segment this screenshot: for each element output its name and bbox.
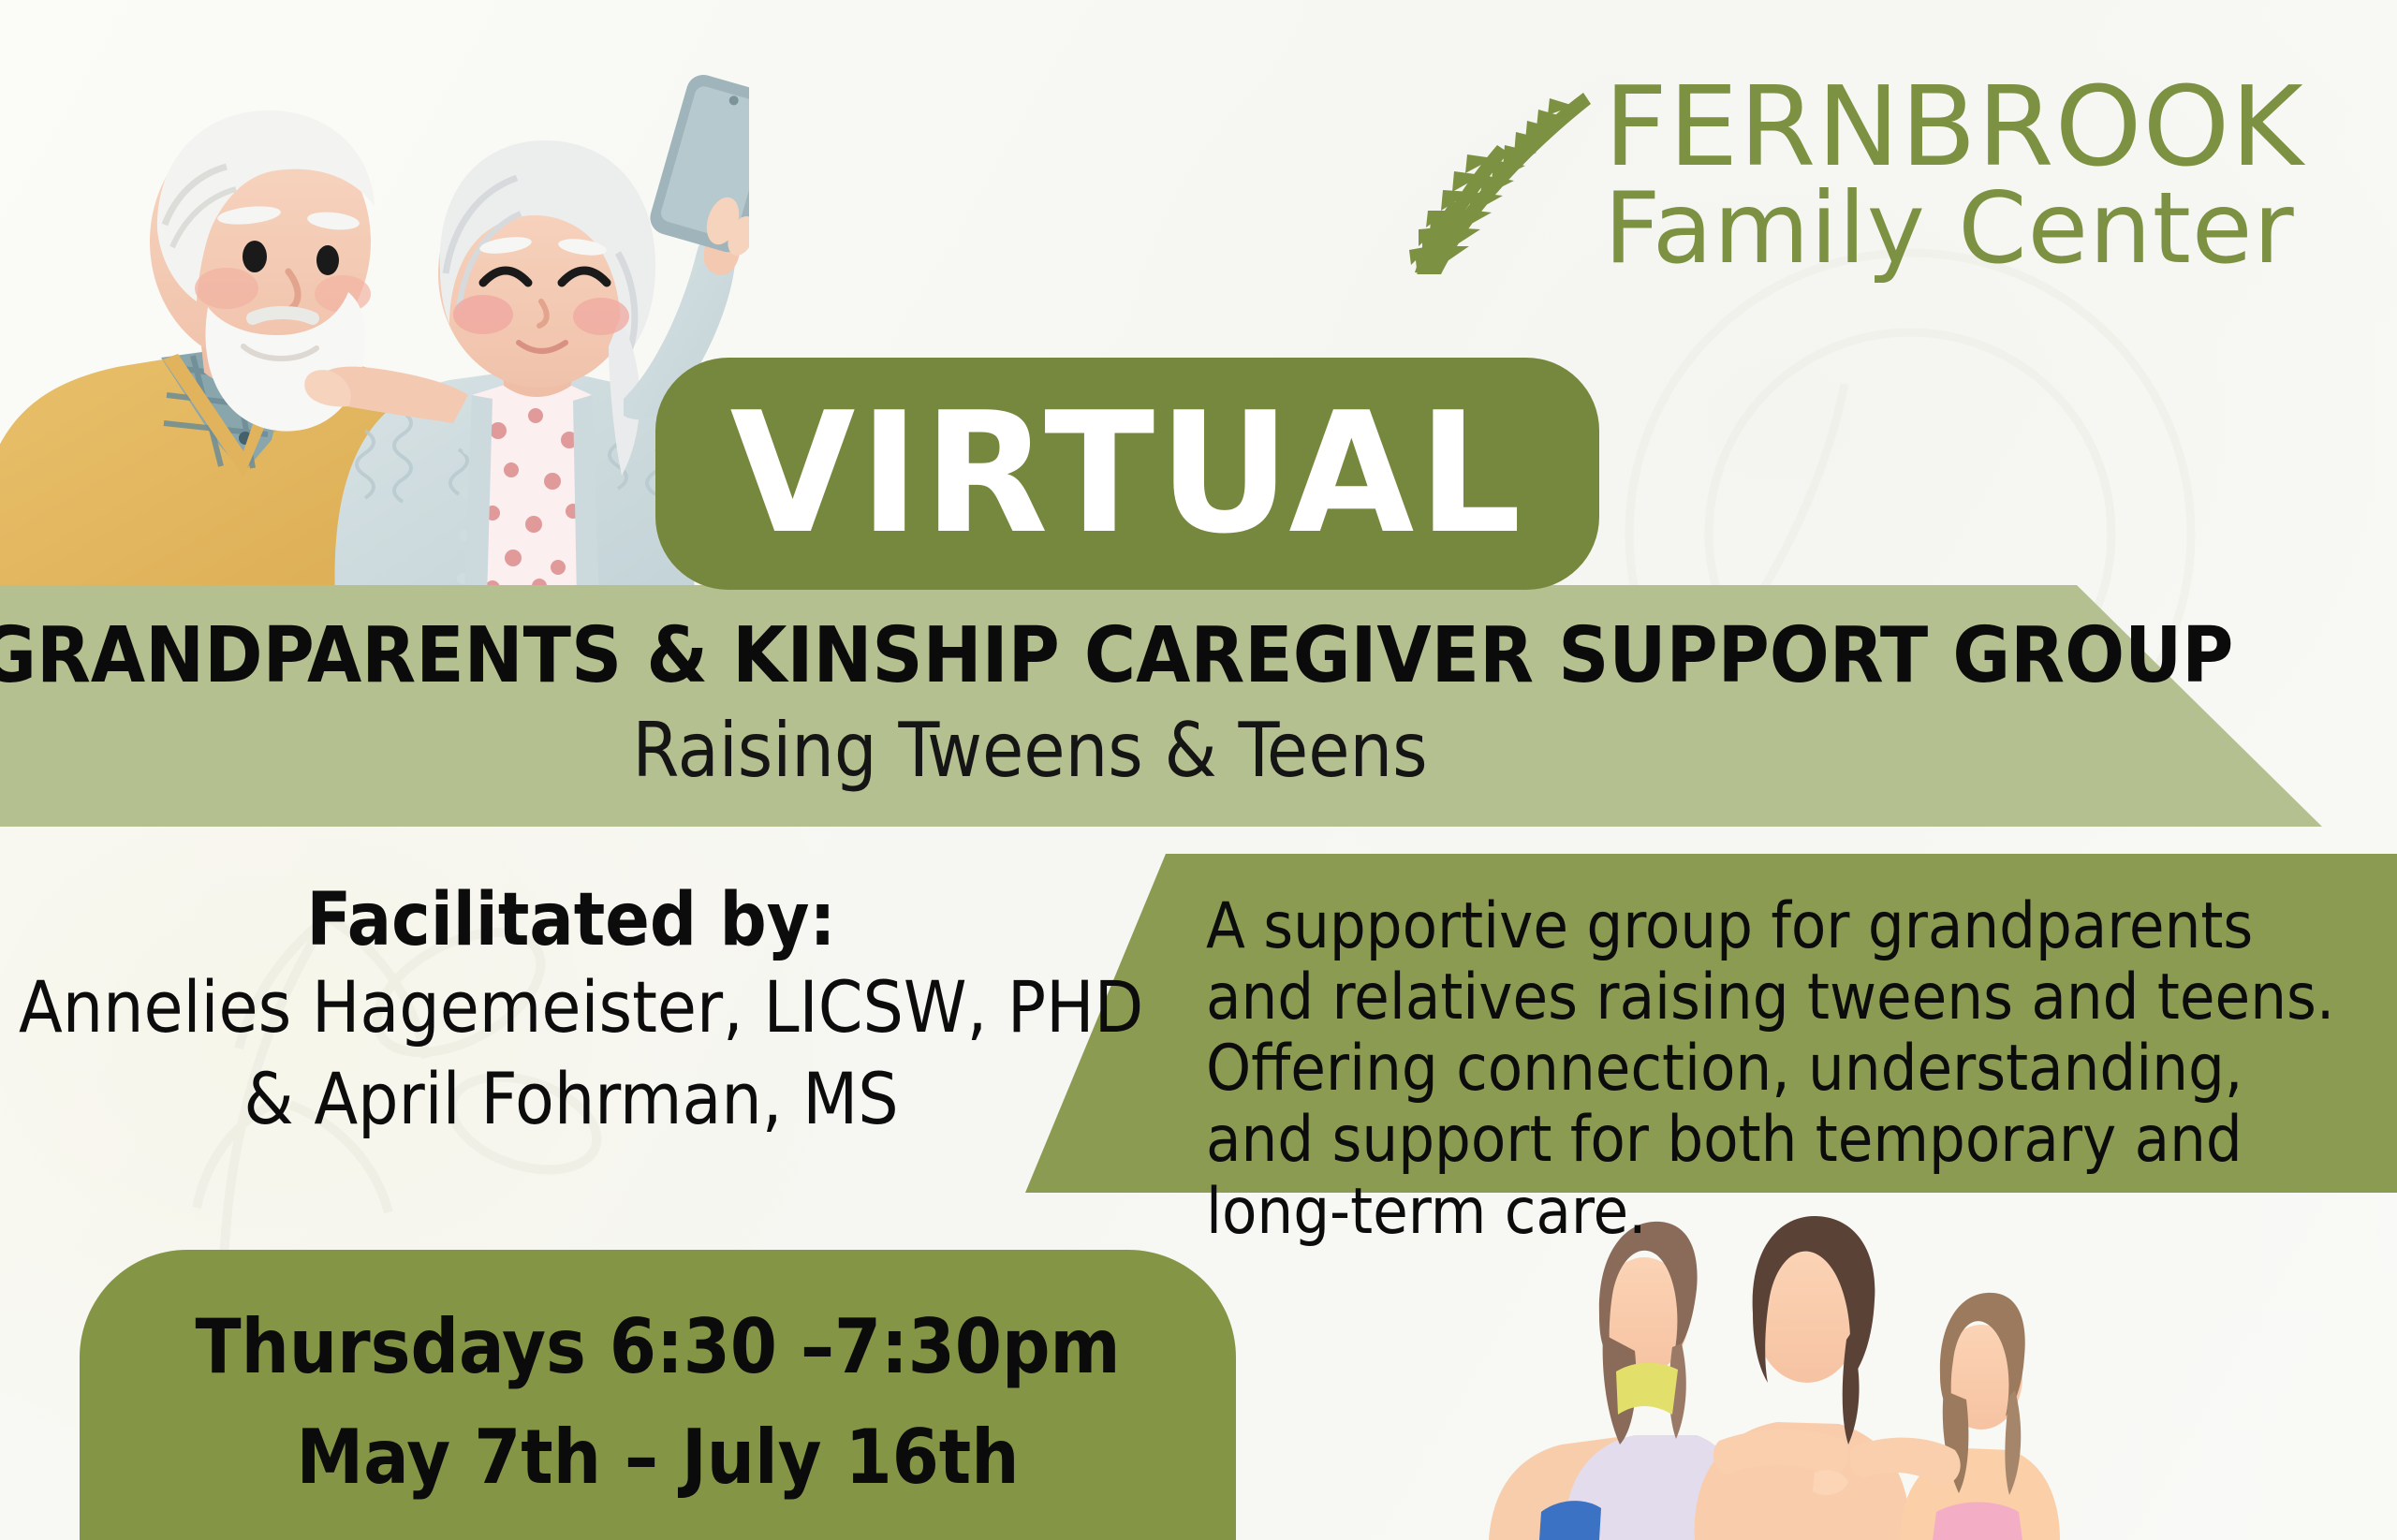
elderly-couple-selfie-illustration: [0, 37, 749, 599]
flyer-canvas: FERNBROOK Family Center VIRTUAL GRANDPAR…: [0, 0, 2397, 1540]
description-text: A supportive group for grandparents and …: [1206, 891, 2358, 1248]
family-group-hug-illustration: [1461, 1203, 2135, 1540]
logo-name: FERNBROOK: [1604, 70, 2372, 183]
virtual-banner: VIRTUAL: [655, 358, 1599, 590]
schedule-time: Thursdays 6:30 –7:30pm: [80, 1292, 1236, 1402]
facilitated-by-label: Facilitated by:: [19, 880, 1124, 961]
logo-subtitle: Family Center: [1604, 177, 2372, 280]
facilitators-block: Facilitated by: Annelies Hagemeister, LI…: [19, 880, 1124, 1144]
schedule-dates: May 7th – July 16th: [80, 1402, 1236, 1513]
facilitator-name-1: Annelies Hagemeister, LICSW, PHD: [19, 961, 1124, 1052]
virtual-label: VIRTUAL: [729, 390, 1525, 557]
page-title: GRANDPARENTS & KINSHIP CAREGIVER SUPPORT…: [0, 611, 2156, 700]
facilitator-name-2: & April Fohrman, MS: [19, 1053, 1124, 1144]
schedule-text-group: Thursdays 6:30 –7:30pm May 7th – July 16…: [80, 1292, 1236, 1514]
fern-leaf-icon: [1400, 87, 1606, 274]
fernbrook-logo: FERNBROOK Family Center: [1400, 70, 2374, 286]
page-subtitle: Raising Tweens & Teens: [0, 707, 2060, 794]
